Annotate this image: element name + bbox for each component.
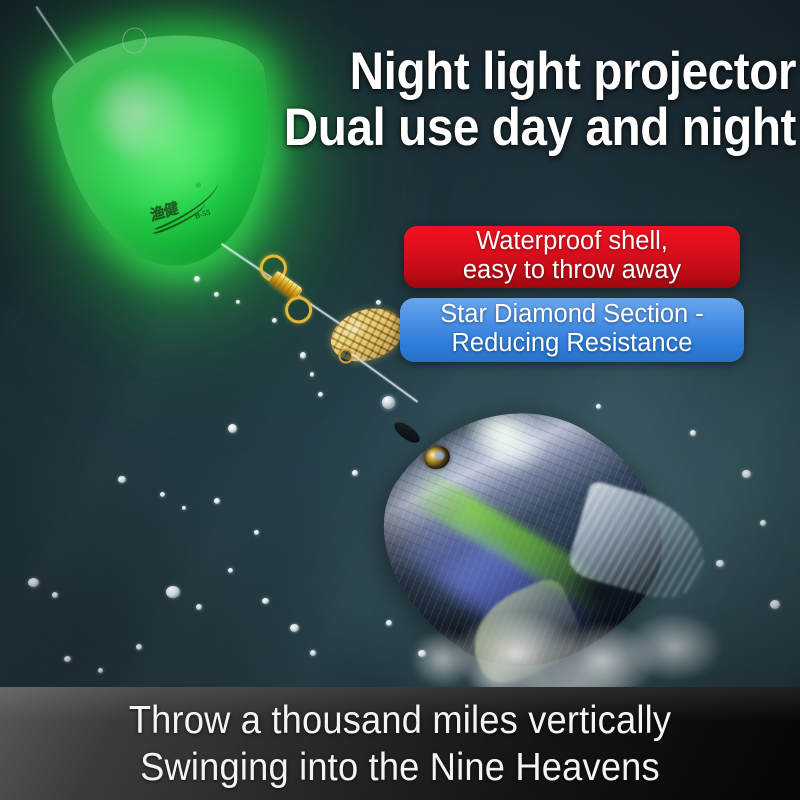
caption-text: Throw a thousand miles vertically Swingi… [28, 687, 772, 800]
page-title: Night light projector Dual use day and n… [260, 44, 796, 156]
product-advertisement-banner: 渔健 ® B-55 [0, 0, 800, 800]
headline-line-2: Dual use day and night [260, 100, 796, 156]
feature-badge-waterproof: Waterproof shell, easy to throw away [404, 226, 740, 288]
badge-red-line-1: Waterproof shell, [463, 227, 681, 256]
bottom-caption-bar: Throw a thousand miles vertically Swingi… [0, 687, 800, 800]
badge-blue-line-1: Star Diamond Section - [440, 300, 704, 329]
headline-line-1: Night light projector [260, 44, 796, 100]
caption-line-1: Throw a thousand miles vertically [129, 697, 671, 744]
badge-red-line-2: easy to throw away [463, 256, 681, 285]
feature-badge-star-diamond: Star Diamond Section - Reducing Resistan… [400, 298, 744, 362]
badge-blue-line-2: Reducing Resistance [440, 329, 704, 358]
caption-line-2: Swinging into the Nine Heavens [140, 744, 660, 791]
